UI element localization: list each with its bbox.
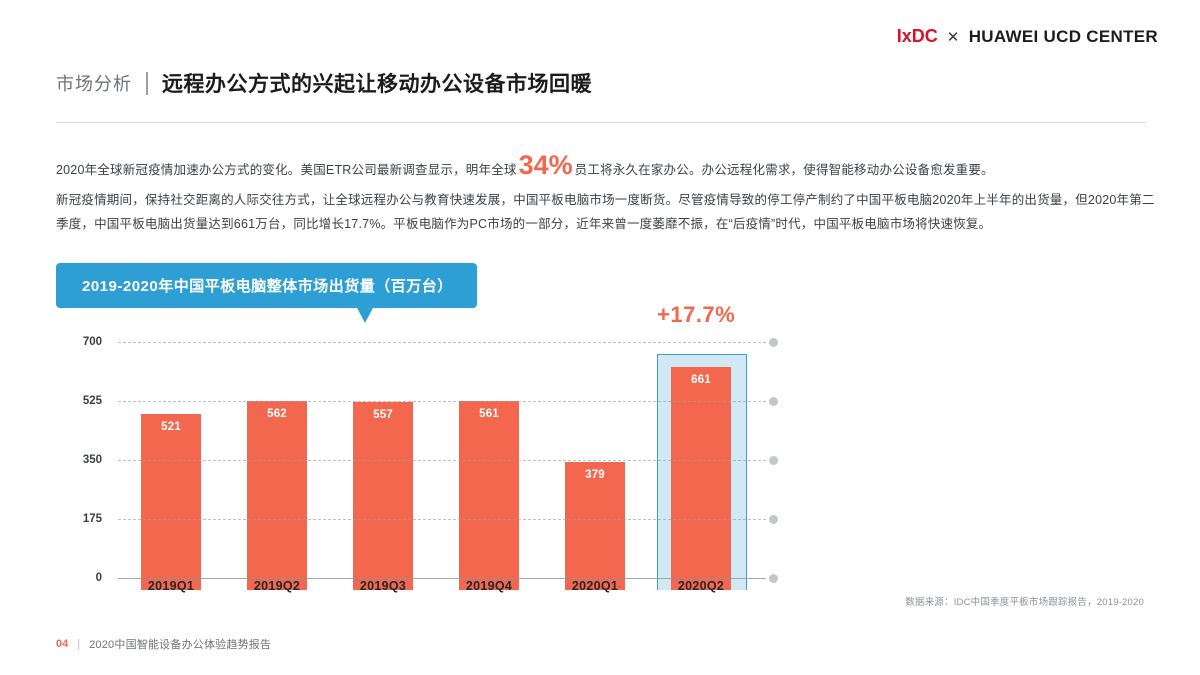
chart-bars: 521562557561379661 <box>118 354 756 590</box>
gridline-end-dot-icon <box>769 338 778 347</box>
growth-annotation: +17.7% <box>657 302 735 328</box>
gridline-end-dot-icon <box>769 515 778 524</box>
chart-title-banner: 2019-2020年中国平板电脑整体市场出货量（百万台） <box>56 263 477 308</box>
x-axis-tick-label: 2019Q1 <box>118 579 224 593</box>
x-axis-tick-label: 2020Q2 <box>648 579 754 593</box>
huawei-ucd-center-logo: HUAWEI UCD CENTER <box>969 27 1158 47</box>
title-headline: 远程办公方式的兴起让移动办公设备市场回暖 <box>162 68 592 98</box>
footer-page-number: 04 <box>56 638 68 650</box>
bar-value-label: 562 <box>267 408 287 420</box>
bar-value-label: 379 <box>585 469 605 481</box>
body-paragraph-2: 新冠疫情期间，保持社交距离的人际交往方式，让全球远程办公与教育快速发展，中国平板… <box>56 188 1166 236</box>
paragraph-1-lead: 2020年全球新冠疫情加速办公方式的变化。美国ETR公司最新调查显示，明年全球 <box>56 158 517 182</box>
y-axis-tick-label: 525 <box>83 395 102 407</box>
y-axis-tick-label: 350 <box>83 454 102 466</box>
body-paragraph-1: 2020年全球新冠疫情加速办公方式的变化。美国ETR公司最新调查显示，明年全球3… <box>56 152 1156 182</box>
page-footer: 04 | 2020中国智能设备办公体验趋势报告 <box>56 636 271 652</box>
cross-icon: ✕ <box>947 28 960 46</box>
slide-root: IxDC ✕ HUAWEI UCD CENTER 市场分析 远程办公方式的兴起让… <box>0 0 1200 675</box>
y-axis-tick-label: 0 <box>96 572 102 584</box>
bar-value-label: 661 <box>691 374 711 386</box>
stat-highlight-34-percent: 34% <box>517 152 575 179</box>
bar[interactable]: 561 <box>459 401 519 590</box>
paragraph-1-tail: 员工将永久在家办公。办公远程化需求，使得智能移动办公设备愈发重要。 <box>575 158 994 182</box>
chart-title-text: 2019-2020年中国平板电脑整体市场出货量（百万台） <box>56 263 477 308</box>
banner-pointer-icon <box>356 306 374 323</box>
bar-slot[interactable]: 557 <box>330 354 436 590</box>
bar-slot[interactable]: 562 <box>224 354 330 590</box>
gridline <box>118 401 766 402</box>
footer-report-name: 2020中国智能设备办公体验趋势报告 <box>89 636 271 652</box>
bar-chart: 0175350525700 521562557561379661 2019Q12… <box>56 330 756 590</box>
bar[interactable]: 379 <box>565 462 625 590</box>
bar-slot[interactable]: 521 <box>118 354 224 590</box>
bar[interactable]: 562 <box>247 401 307 590</box>
y-axis-labels: 0175350525700 <box>56 330 112 590</box>
bar[interactable]: 521 <box>141 414 201 590</box>
x-axis-tick-label: 2019Q2 <box>224 579 330 593</box>
x-axis-tick-label: 2019Q3 <box>330 579 436 593</box>
bar-slot[interactable]: 561 <box>436 354 542 590</box>
x-axis-labels: 2019Q12019Q22019Q32019Q42020Q12020Q2 <box>118 579 756 601</box>
bar-value-label: 557 <box>373 409 393 421</box>
title-rule <box>56 122 1146 123</box>
bar-slot[interactable]: 661 <box>648 354 754 590</box>
gridline-end-dot-icon <box>769 456 778 465</box>
ixdc-logo: IxDC <box>897 26 938 47</box>
y-axis-tick-label: 175 <box>83 513 102 525</box>
title-divider <box>146 72 148 95</box>
bar-value-label: 521 <box>161 421 181 433</box>
y-axis-tick-label: 700 <box>83 336 102 348</box>
x-axis-tick-label: 2019Q4 <box>436 579 542 593</box>
gridline-end-dot-icon <box>769 397 778 406</box>
bar-slot[interactable]: 379 <box>542 354 648 590</box>
footer-divider: | <box>77 638 80 650</box>
brand-lockup: IxDC ✕ HUAWEI UCD CENTER <box>897 26 1158 47</box>
gridline <box>118 460 766 461</box>
title-kicker: 市场分析 <box>56 70 132 96</box>
gridline <box>118 519 766 520</box>
chart-source-note: 数据来源：IDC中国季度平板市场跟踪报告，2019-2020 <box>905 594 1144 608</box>
bar[interactable]: 557 <box>353 402 413 590</box>
x-axis-tick-label: 2020Q1 <box>542 579 648 593</box>
bar-value-label: 561 <box>479 408 499 420</box>
gridline <box>118 342 766 343</box>
gridline <box>118 578 766 579</box>
page-title: 市场分析 远程办公方式的兴起让移动办公设备市场回暖 <box>56 68 592 98</box>
gridline-end-dot-icon <box>769 574 778 583</box>
